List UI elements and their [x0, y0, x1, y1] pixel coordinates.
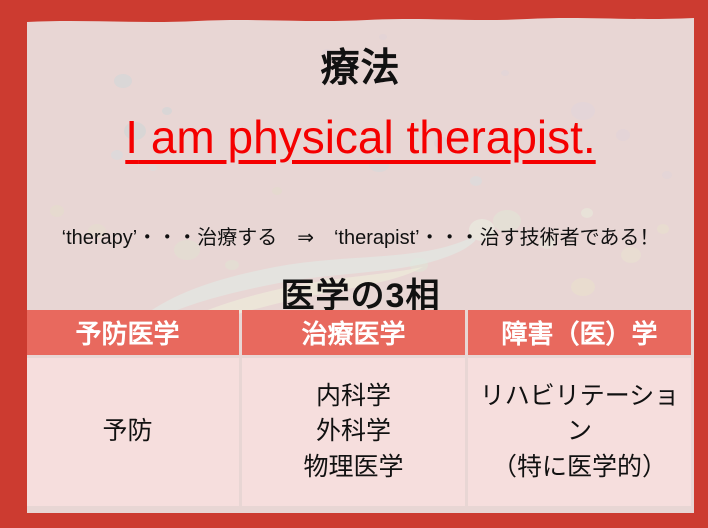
table-cell-prevention: 予防: [27, 358, 239, 506]
table-row: 予防 内科学 外科学 物理医学 リハビリテーション （特に医学的）: [27, 358, 691, 506]
slide-canvas: 療法 I am physical therapist. ‘therapy’・・・…: [0, 0, 708, 528]
cell-line: 物理医学: [244, 450, 463, 486]
cell-line: 予防: [27, 414, 237, 450]
table-cell-disability: リハビリテーション （特に医学的）: [468, 358, 691, 506]
cell-line: 内科学: [244, 379, 463, 415]
headline-word-rest: am physical therapist.: [138, 111, 596, 163]
table-header-row: 予防医学 治療医学 障害（医）学: [27, 310, 691, 355]
table-header-cell-prevention: 予防医学: [27, 310, 239, 355]
table-header-cell-treatment: 治療医学: [242, 310, 465, 355]
headline-word-first: I: [125, 111, 138, 163]
etymology-gloss-line: ‘therapy’・・・治療する ⇒ ‘therapist’・・・治す技術者であ…: [27, 221, 694, 250]
cell-line: リハビリテーション: [470, 379, 689, 450]
three-phases-table-wrap: 予防医学 治療医学 障害（医）学 予防 内科学 外科学 物理医学: [27, 307, 694, 513]
page-title: 療法: [27, 37, 694, 93]
slide-paper-panel: 療法 I am physical therapist. ‘therapy’・・・…: [27, 15, 694, 513]
paper-torn-edge: [27, 15, 694, 25]
table-header-cell-disability: 障害（医）学: [468, 310, 691, 355]
table-cell-treatment: 内科学 外科学 物理医学: [242, 358, 465, 506]
three-phases-table: 予防医学 治療医学 障害（医）学 予防 内科学 外科学 物理医学: [27, 307, 694, 509]
cell-line: 外科学: [244, 414, 463, 450]
cell-line: （特に医学的）: [470, 450, 689, 486]
english-headline: I am physical therapist.: [27, 110, 694, 164]
